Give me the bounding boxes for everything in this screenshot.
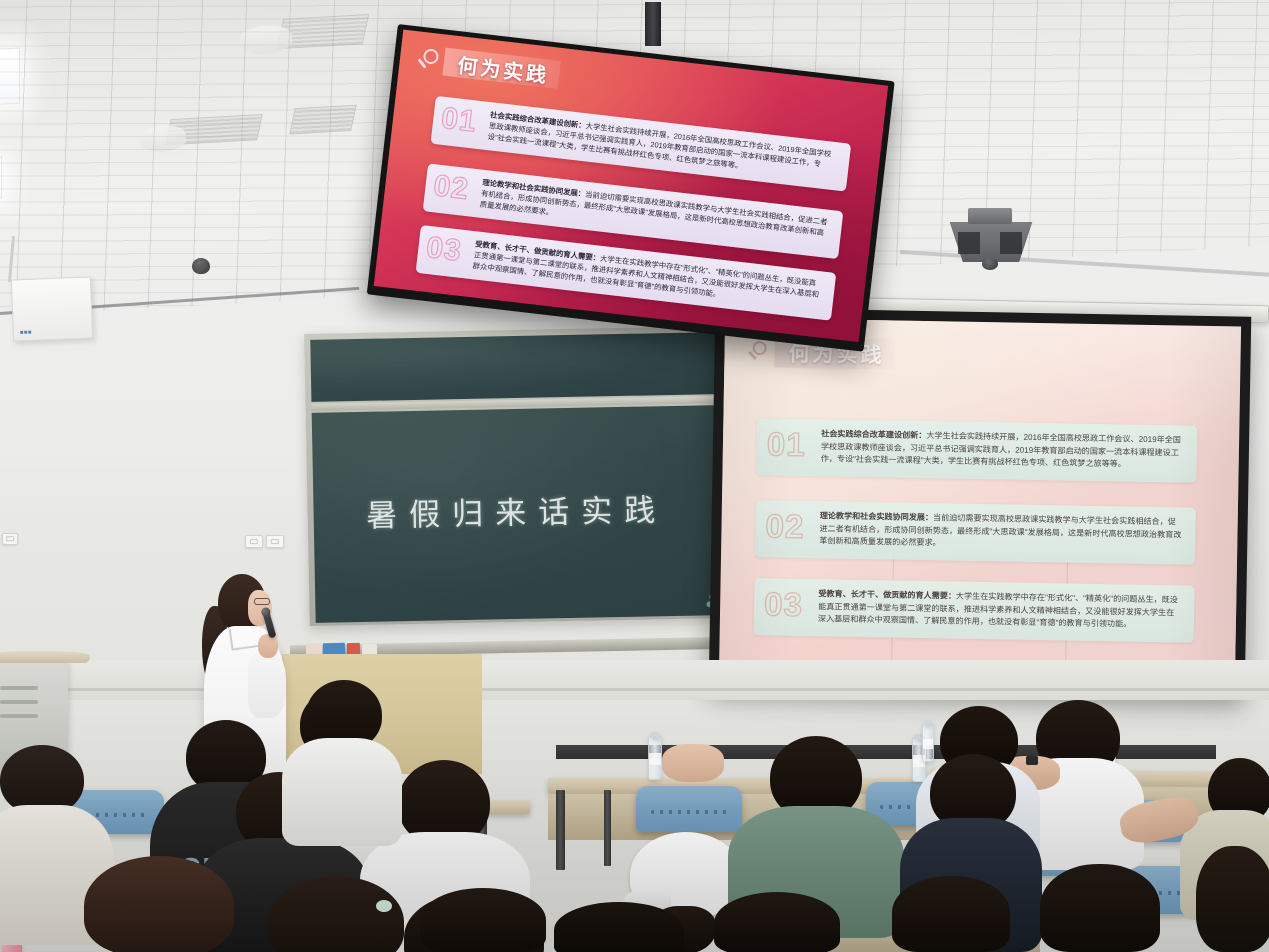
student-head xyxy=(420,888,546,952)
wall-switch[interactable] xyxy=(245,535,263,548)
card-heading: 受教育、长才干、做贡献的育人需要： xyxy=(818,589,956,600)
classroom-seat[interactable] xyxy=(636,786,742,832)
card-heading: 理论教学和社会实践协同发展： xyxy=(820,511,933,522)
wall-box-label: ■■■ xyxy=(20,330,32,336)
card-text: 大学生社会实践持续开展，2016年全国高校思政工作会议、2019年全国学校思政课… xyxy=(487,121,832,170)
projector-lens-icon xyxy=(982,258,998,270)
card-text: 当前迫切需要实现高校思政课实践教学与大学生社会实践相结合，促进二者有机结合，形成… xyxy=(479,189,828,238)
presenter-arm xyxy=(248,652,286,718)
projector-vent-icon xyxy=(1000,232,1022,254)
lectern-slot xyxy=(0,700,38,704)
card-text: 大学生在实践教学中存在"形式化"、"精英化"的问题丛生，既没能真正贯通第一课堂与… xyxy=(472,250,819,299)
slide-card-03: 03 受教育、长才干、做贡献的育人需要：大学生在实践教学中存在"形式化"、"精英… xyxy=(754,578,1195,642)
card-heading: 社会实践综合改革建设创新： xyxy=(821,429,926,440)
classroom-photo: ■■■ 暑假归来话实践 xyxy=(0,0,1269,952)
slide-card-02: 02 理论教学和社会实践协同发展：当前迫切需要实现高校思政课实践教学与大学生社会… xyxy=(755,500,1196,564)
blackboard-handwriting: 暑假归来话实践 xyxy=(313,483,720,536)
tv-slide: 何为实践 01 社会实践综合改革建设创新：大学生社会实践持续开展，2016年全国… xyxy=(374,30,888,342)
wall-switch[interactable] xyxy=(266,535,284,548)
presenter-hand xyxy=(258,634,278,658)
ceiling-panel-light xyxy=(0,157,2,204)
student-head xyxy=(714,892,840,952)
ceiling-panel-light xyxy=(0,48,20,109)
wall-mounted-box: ■■■ xyxy=(11,276,93,341)
projector-ceiling-pole xyxy=(968,208,1012,224)
card-number: 03 xyxy=(764,587,819,621)
card-number: 01 xyxy=(440,104,491,139)
tv-slide-header: 何为实践 xyxy=(414,43,560,89)
bottle-cap xyxy=(925,720,931,726)
water-bottle xyxy=(648,736,662,780)
card-number: 02 xyxy=(765,509,820,543)
projected-slide: 何为实践 01 社会实践综合改革建设创新：大学生社会实践持续开展，2016年全国… xyxy=(719,318,1241,685)
tv-slide-title: 何为实践 xyxy=(456,49,551,88)
water-bottle xyxy=(922,724,934,762)
wall-trim-line xyxy=(0,688,1269,691)
student-head-long-hair xyxy=(1196,846,1269,952)
projector-vent-icon xyxy=(958,232,980,254)
student-head-long-hair xyxy=(84,856,234,952)
student-arm xyxy=(662,744,724,782)
card-number: 02 xyxy=(432,171,483,206)
card-number: 01 xyxy=(767,427,822,461)
blackboard: 暑假归来话实践 xyxy=(304,326,728,634)
ac-vent xyxy=(277,14,369,49)
ac-vent-sag xyxy=(140,124,186,153)
bottle-cap xyxy=(651,732,659,738)
card-number: 03 xyxy=(425,233,476,268)
presenter-glasses xyxy=(254,598,270,605)
tv-ceiling-mount xyxy=(645,2,661,46)
ac-vent xyxy=(289,105,357,135)
desk-leg xyxy=(604,790,611,866)
wristwatch-icon xyxy=(1026,756,1038,765)
ac-vent xyxy=(165,114,263,145)
ceiling-speaker-icon xyxy=(192,258,210,274)
lectern-slot xyxy=(0,686,38,690)
ac-vent-sag xyxy=(240,24,292,55)
projection-screen: 何为实践 01 社会实践综合改革建设创新：大学生社会实践持续开展，2016年全国… xyxy=(709,307,1252,696)
wall-tv-display: 何为实践 01 社会实践综合改革建设创新：大学生社会实践持续开展，2016年全国… xyxy=(367,24,895,352)
student-head xyxy=(554,902,684,952)
bottle-label xyxy=(923,739,933,749)
wall-lower-band xyxy=(0,660,1269,700)
student-torso xyxy=(282,738,402,846)
bottle-label xyxy=(649,753,661,765)
lectern-top xyxy=(0,651,90,663)
slide-card-01: 01 社会实践综合改革建设创新：大学生社会实践持续开展，2016年全国高校思政工… xyxy=(756,418,1197,482)
student-head xyxy=(892,876,1010,952)
magnifier-icon xyxy=(415,45,444,74)
student-head xyxy=(1040,864,1160,952)
desk-leg xyxy=(556,790,565,870)
tv-slide-title-band: 何为实践 xyxy=(442,48,560,89)
hair-tie-icon xyxy=(376,900,392,912)
magnifier-icon xyxy=(746,340,770,364)
lectern-slot xyxy=(0,714,38,718)
wall-switch[interactable] xyxy=(2,533,18,545)
